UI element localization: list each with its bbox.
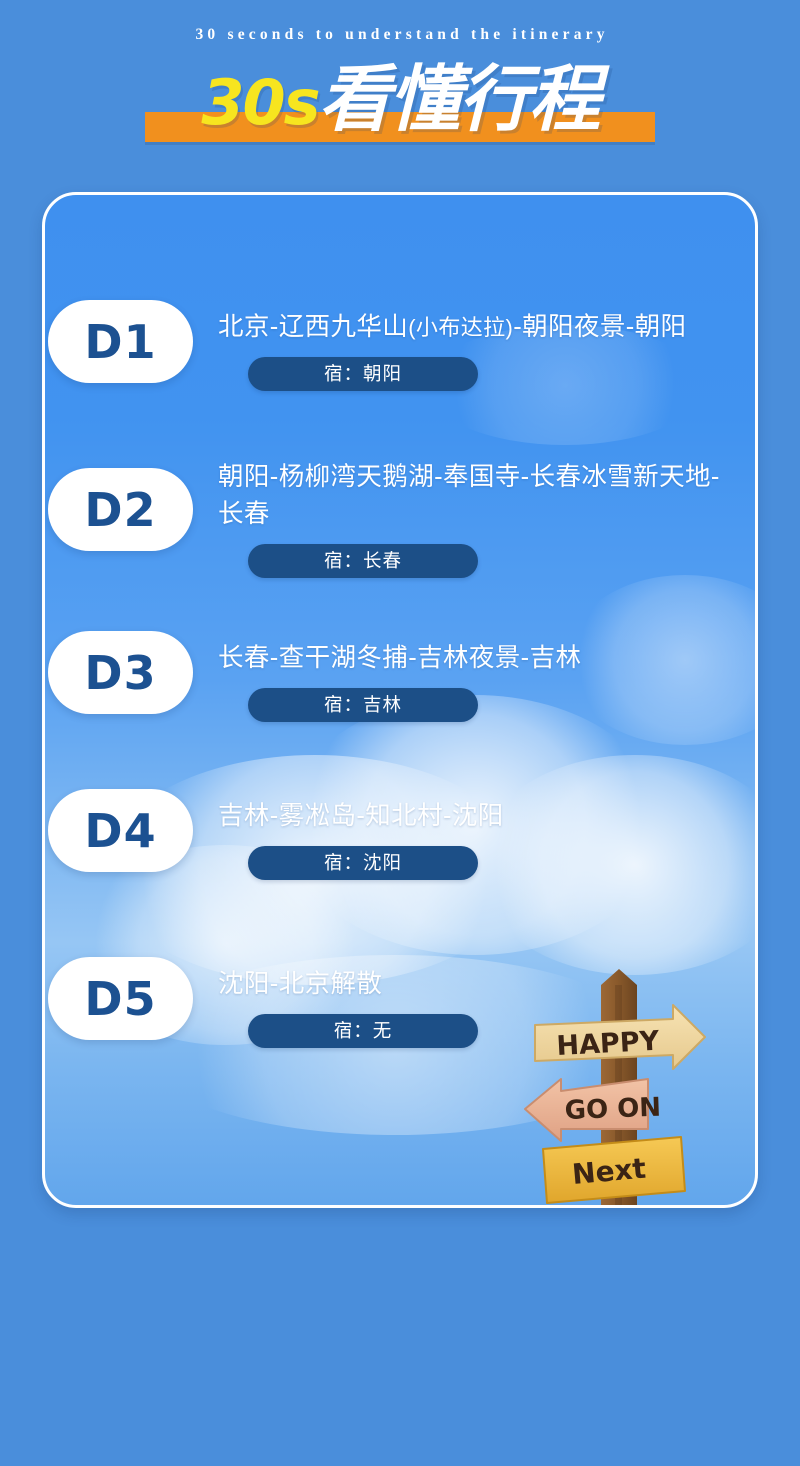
- route-text: 吉林-雾凇岛-知北村-沈阳: [218, 798, 743, 835]
- route-segment: 长春-查干湖冬捕-吉林夜景-吉林: [218, 644, 581, 672]
- stay-badge: 宿：朝阳: [248, 357, 478, 391]
- header-subtitle: 30 seconds to understand the itinerary: [0, 26, 800, 44]
- route-text: 北京-辽西九华山(小布达拉)-朝阳夜景-朝阳: [218, 309, 743, 346]
- route-segment: 沈阳-北京解散: [218, 970, 382, 998]
- route-segment: -朝阳夜景-朝阳: [513, 313, 686, 341]
- day-detail-d3: 长春-查干湖冬捕-吉林夜景-吉林 宿：吉林: [218, 640, 743, 722]
- day-badge-d3[interactable]: D3: [48, 631, 193, 714]
- stay-badge: 宿：无: [248, 1014, 478, 1048]
- itinerary-card: HAPPY GO ON Next D1 北京-辽西九华山(小布达拉)-朝阳夜景-…: [42, 192, 758, 1208]
- route-text: 朝阳-杨柳湾天鹅湖-奉国寺-长春冰雪新天地-长春: [218, 459, 743, 533]
- day-detail-d5: 沈阳-北京解散 宿：无: [218, 966, 743, 1048]
- route-segment: 吉林-雾凇岛-知北村-沈阳: [218, 802, 504, 830]
- stay-badge: 宿：吉林: [248, 688, 478, 722]
- route-text: 沈阳-北京解散: [218, 966, 743, 1003]
- route-text: 长春-查干湖冬捕-吉林夜景-吉林: [218, 640, 743, 677]
- day-badge-label: D2: [84, 483, 156, 537]
- page-title: 30s看懂行程: [0, 58, 800, 145]
- day-badge-label: D5: [84, 972, 156, 1026]
- route-segment: 北京-辽西九华山: [218, 313, 408, 341]
- day-badge-label: D1: [84, 315, 156, 369]
- day-badge-label: D4: [84, 804, 156, 858]
- title-number: 30s: [201, 66, 318, 139]
- page-header: 30 seconds to understand the itinerary 3…: [0, 0, 800, 175]
- day-badge-d4[interactable]: D4: [48, 789, 193, 872]
- day-detail-d1: 北京-辽西九华山(小布达拉)-朝阳夜景-朝阳 宿：朝阳: [218, 309, 743, 391]
- itinerary-rows: D1 北京-辽西九华山(小布达拉)-朝阳夜景-朝阳 宿：朝阳 D2 朝阳-杨柳湾…: [45, 195, 758, 1208]
- stay-badge: 宿：长春: [248, 544, 478, 578]
- title-chinese: 看懂行程: [319, 60, 599, 140]
- day-detail-d2: 朝阳-杨柳湾天鹅湖-奉国寺-长春冰雪新天地-长春 宿：长春: [218, 459, 743, 578]
- route-segment: 朝阳-杨柳湾天鹅湖-奉国寺-长春冰雪新天地-长春: [218, 463, 720, 528]
- day-badge-label: D3: [84, 646, 156, 700]
- header-title-group: 30s看懂行程: [0, 58, 800, 150]
- day-badge-d5[interactable]: D5: [48, 957, 193, 1040]
- stay-badge: 宿：沈阳: [248, 846, 478, 880]
- day-detail-d4: 吉林-雾凇岛-知北村-沈阳 宿：沈阳: [218, 798, 743, 880]
- day-badge-d1[interactable]: D1: [48, 300, 193, 383]
- route-parenthetical: (小布达拉): [408, 315, 513, 340]
- day-badge-d2[interactable]: D2: [48, 468, 193, 551]
